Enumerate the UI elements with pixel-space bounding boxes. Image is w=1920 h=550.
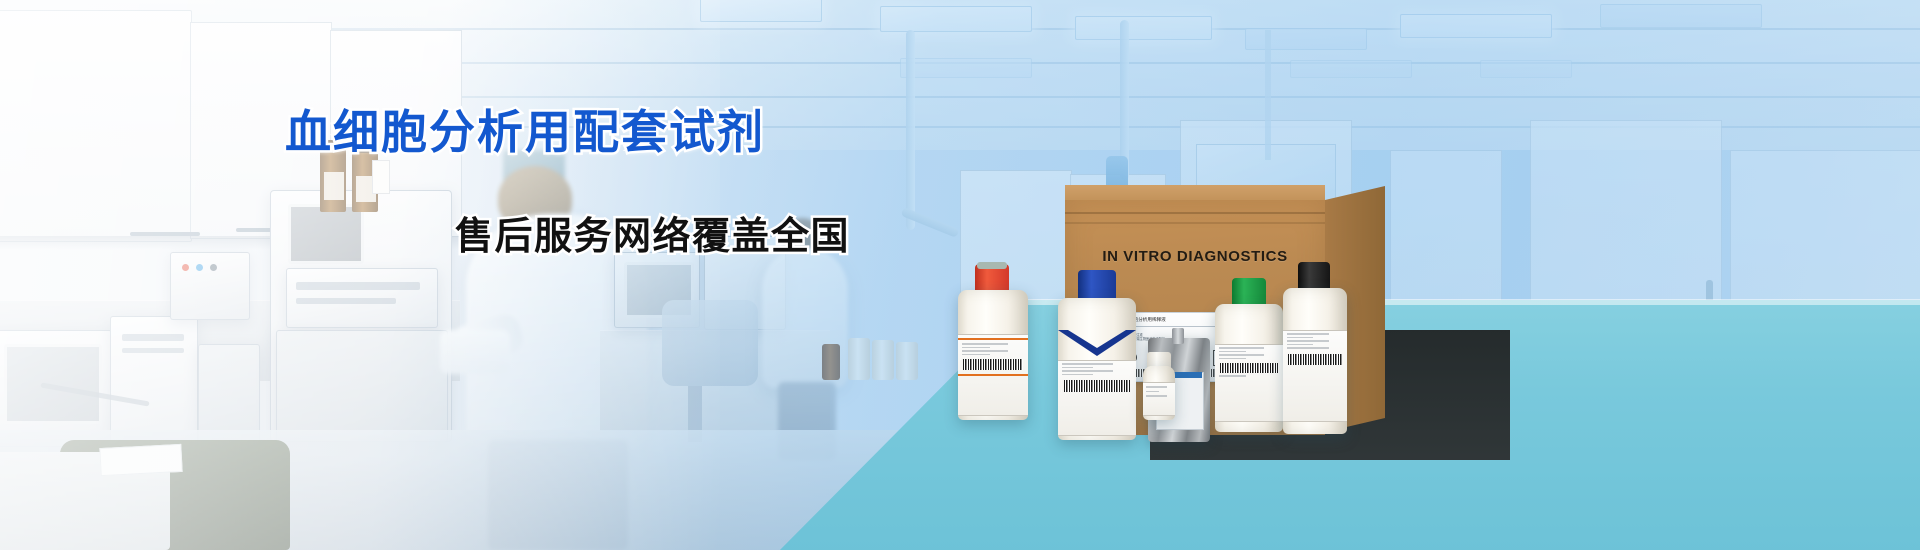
vial-label — [1143, 382, 1175, 416]
bottle-label — [958, 334, 1028, 416]
carton-text: IN VITRO DIAGNOSTICS — [1065, 248, 1325, 265]
pouch-spout — [1172, 328, 1184, 344]
bottle-cap-green — [1232, 278, 1266, 306]
bottle-label — [1215, 344, 1283, 422]
hero-banner: IN VITRO DIAGNOSTICS 迈瑞 血细胞分析用稀释液 20L 规格… — [0, 0, 1920, 550]
cap-top — [977, 262, 1007, 269]
carton-seam — [1065, 212, 1325, 214]
bottle-label — [1283, 330, 1347, 422]
carton-seam — [1065, 222, 1325, 224]
bottle-cap-black — [1298, 262, 1330, 290]
bottle-label — [1058, 360, 1136, 436]
white-fade-overlay — [0, 0, 720, 550]
bottle-cap-blue — [1078, 270, 1116, 300]
